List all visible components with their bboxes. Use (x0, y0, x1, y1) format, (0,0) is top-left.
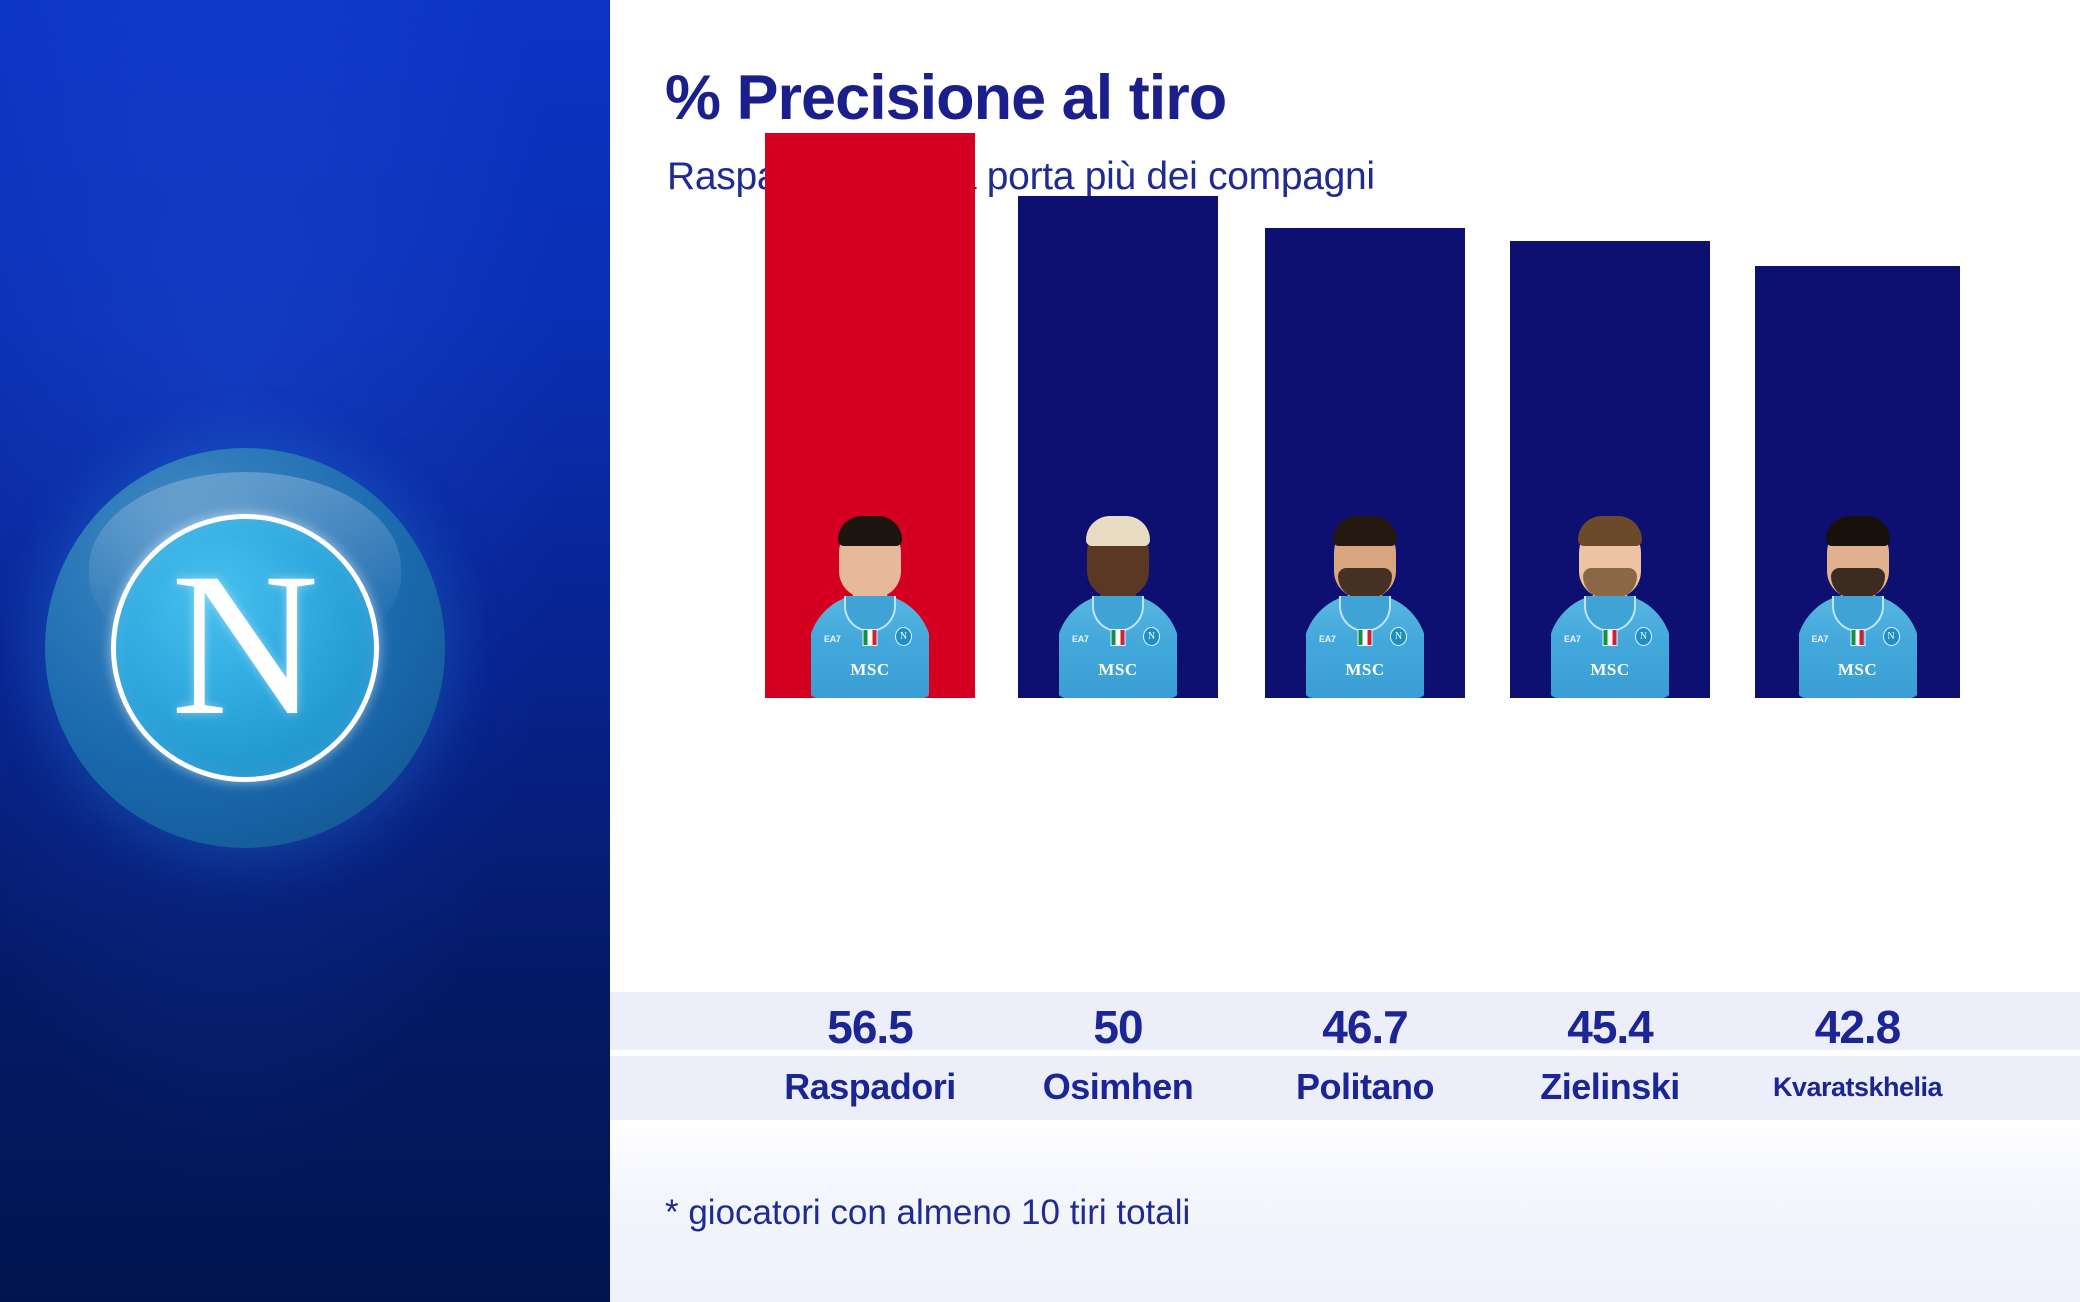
bar-group: EA7NMSC (1265, 228, 1465, 698)
msc-sponsor-logo: MSC (1098, 660, 1137, 680)
bar-value-label: 45.4 (1510, 1000, 1710, 1054)
bar-category-label: Osimhen (1002, 1066, 1234, 1108)
bar-category-label: Zielinski (1494, 1066, 1726, 1108)
bar-category-label: Politano (1249, 1066, 1481, 1108)
jersey-crest-icon: N (1635, 627, 1652, 646)
bar-value-label: 42.8 (1755, 1000, 1960, 1054)
player-photo: EA7NMSC (1059, 508, 1177, 698)
msc-sponsor-logo: MSC (850, 660, 889, 680)
chart-bar[interactable]: EA7NMSC (1265, 228, 1465, 698)
italy-flag-icon (1603, 629, 1618, 646)
player-hair (838, 516, 902, 546)
msc-sponsor-logo: MSC (1590, 660, 1629, 680)
italy-flag-icon (1850, 629, 1865, 646)
bar-value-label: 50 (1018, 1000, 1218, 1054)
jersey-crest-icon: N (1883, 627, 1900, 646)
napoli-crest-icon: N (45, 448, 445, 848)
bar-value-label: 56.5 (765, 1000, 975, 1054)
chart-bar[interactable]: EA7NMSC (1018, 196, 1218, 698)
jersey-crest-icon: N (1143, 627, 1160, 646)
bar-group: EA7NMSC (1018, 196, 1218, 698)
chart-bar[interactable]: EA7NMSC (765, 133, 975, 698)
italy-flag-icon (1111, 629, 1126, 646)
chart-panel: % Precisione al tiro Raspadori vede la p… (610, 0, 2080, 1302)
italy-flag-icon (863, 629, 878, 646)
msc-sponsor-logo: MSC (1838, 660, 1877, 680)
player-photo: EA7NMSC (811, 508, 929, 698)
player-photo: EA7NMSC (1799, 508, 1917, 698)
bar-value-label: 46.7 (1265, 1000, 1465, 1054)
player-photo: EA7NMSC (1306, 508, 1424, 698)
bar-group: EA7NMSC (1755, 266, 1960, 698)
ea7-logo: EA7 (1319, 634, 1336, 644)
footnote-text: * giocatori con almeno 10 tiri totali (665, 1193, 1190, 1233)
player-hair (1826, 516, 1890, 546)
ea7-logo: EA7 (1072, 634, 1089, 644)
crest-inner-circle: N (111, 514, 379, 782)
chart-bar[interactable]: EA7NMSC (1510, 241, 1710, 698)
ea7-logo: EA7 (1564, 634, 1581, 644)
italy-flag-icon (1358, 629, 1373, 646)
brand-panel: N (0, 0, 610, 1302)
bar-category-label: Kvaratskhelia (1739, 1072, 1976, 1103)
player-hair (1086, 516, 1150, 546)
crest-letter: N (171, 542, 319, 747)
player-hair (1333, 516, 1397, 546)
bar-category-label: Raspadori (749, 1066, 991, 1108)
ea7-logo: EA7 (824, 634, 841, 644)
bar-group: EA7NMSC (1510, 241, 1710, 698)
bar-group: EA7NMSC (765, 133, 975, 698)
ea7-logo: EA7 (1812, 634, 1829, 644)
msc-sponsor-logo: MSC (1345, 660, 1384, 680)
player-hair (1578, 516, 1642, 546)
chart-bar[interactable]: EA7NMSC (1755, 266, 1960, 698)
infographic-root: N % Precisione al tiro Raspadori vede la… (0, 0, 2080, 1302)
player-photo: EA7NMSC (1551, 508, 1669, 698)
bar-chart-plot: EA7NMSCEA7NMSCEA7NMSCEA7NMSCEA7NMSC (610, 0, 2080, 1000)
jersey-crest-icon: N (895, 627, 912, 646)
jersey-crest-icon: N (1390, 627, 1407, 646)
